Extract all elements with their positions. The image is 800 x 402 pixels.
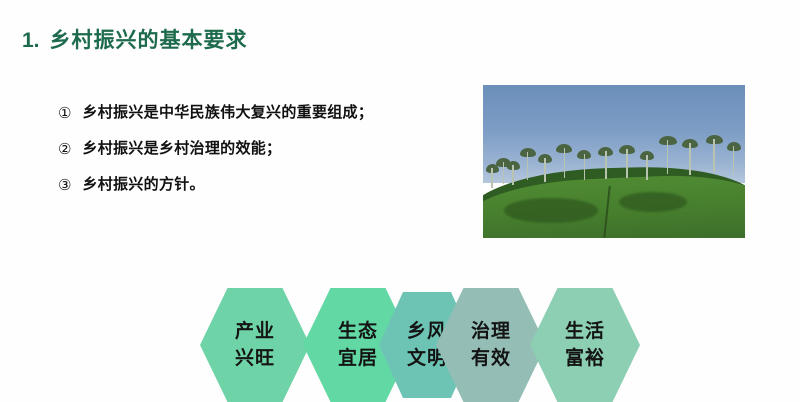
photo-tree [507, 165, 520, 185]
hexagon-row: 产业 兴旺 生态 宜居 乡风 文明 治理 有效 生活 富裕 [0, 288, 800, 402]
page-title: 1. 乡村振兴的基本要求 [22, 24, 248, 54]
hexagon-label-line2: 兴旺 [235, 347, 275, 370]
list-item: ② 乡村振兴是乡村治理的效能； [58, 139, 478, 159]
photo-field-shadow [504, 198, 598, 222]
circled-number-icon: ① [58, 103, 71, 123]
list-item: ① 乡村振兴是中华民族伟大复兴的重要组成； [58, 103, 478, 123]
list-item-label: 乡村振兴的方针。 [82, 175, 204, 195]
photo-tree [598, 151, 613, 179]
photo-tree [706, 139, 723, 172]
photo-tree [556, 148, 572, 178]
hexagon-label-line1: 生活 [565, 320, 605, 343]
photo-tree [520, 152, 536, 180]
bullet-list: ① 乡村振兴是中华民族伟大复兴的重要组成； ② 乡村振兴是乡村治理的效能； ③ … [58, 103, 478, 211]
page-title-number: 1. [22, 29, 40, 53]
hexagon-label-line1: 生态 [338, 320, 378, 343]
photo-tree [659, 140, 677, 174]
photo-tree [727, 146, 741, 174]
photo-tree [538, 158, 552, 182]
photo-field-shadow [619, 192, 687, 212]
hexagon-chanye-xingwang[interactable]: 产业 兴旺 [200, 288, 310, 402]
page-title-text: 乡村振兴的基本要求 [50, 24, 248, 54]
photo-canvas [483, 85, 745, 238]
circled-number-icon: ② [58, 139, 71, 159]
hexagon-label-line1: 治理 [471, 320, 511, 343]
photo-tree [682, 143, 698, 175]
slide-root: 1. 乡村振兴的基本要求 ① 乡村振兴是中华民族伟大复兴的重要组成； ② 乡村振… [0, 0, 800, 402]
photo-tree [577, 154, 591, 180]
hexagon-label-line2: 有效 [471, 347, 511, 370]
circled-number-icon: ③ [58, 175, 71, 195]
photo-tree [640, 155, 654, 180]
rural-landscape-photo [483, 85, 745, 238]
list-item-label: 乡村振兴是乡村治理的效能； [82, 139, 281, 159]
hexagon-label-line1: 产业 [235, 320, 275, 343]
list-item: ③ 乡村振兴的方针。 [58, 175, 478, 195]
list-item-label: 乡村振兴是中华民族伟大复兴的重要组成； [82, 103, 373, 123]
photo-tree [619, 149, 635, 178]
photo-tree [486, 168, 499, 188]
hexagon-label-line2: 宜居 [338, 347, 378, 370]
hexagon-label-line2: 富裕 [565, 347, 605, 370]
hexagon-shenghuo-fuyu[interactable]: 生活 富裕 [530, 288, 640, 402]
